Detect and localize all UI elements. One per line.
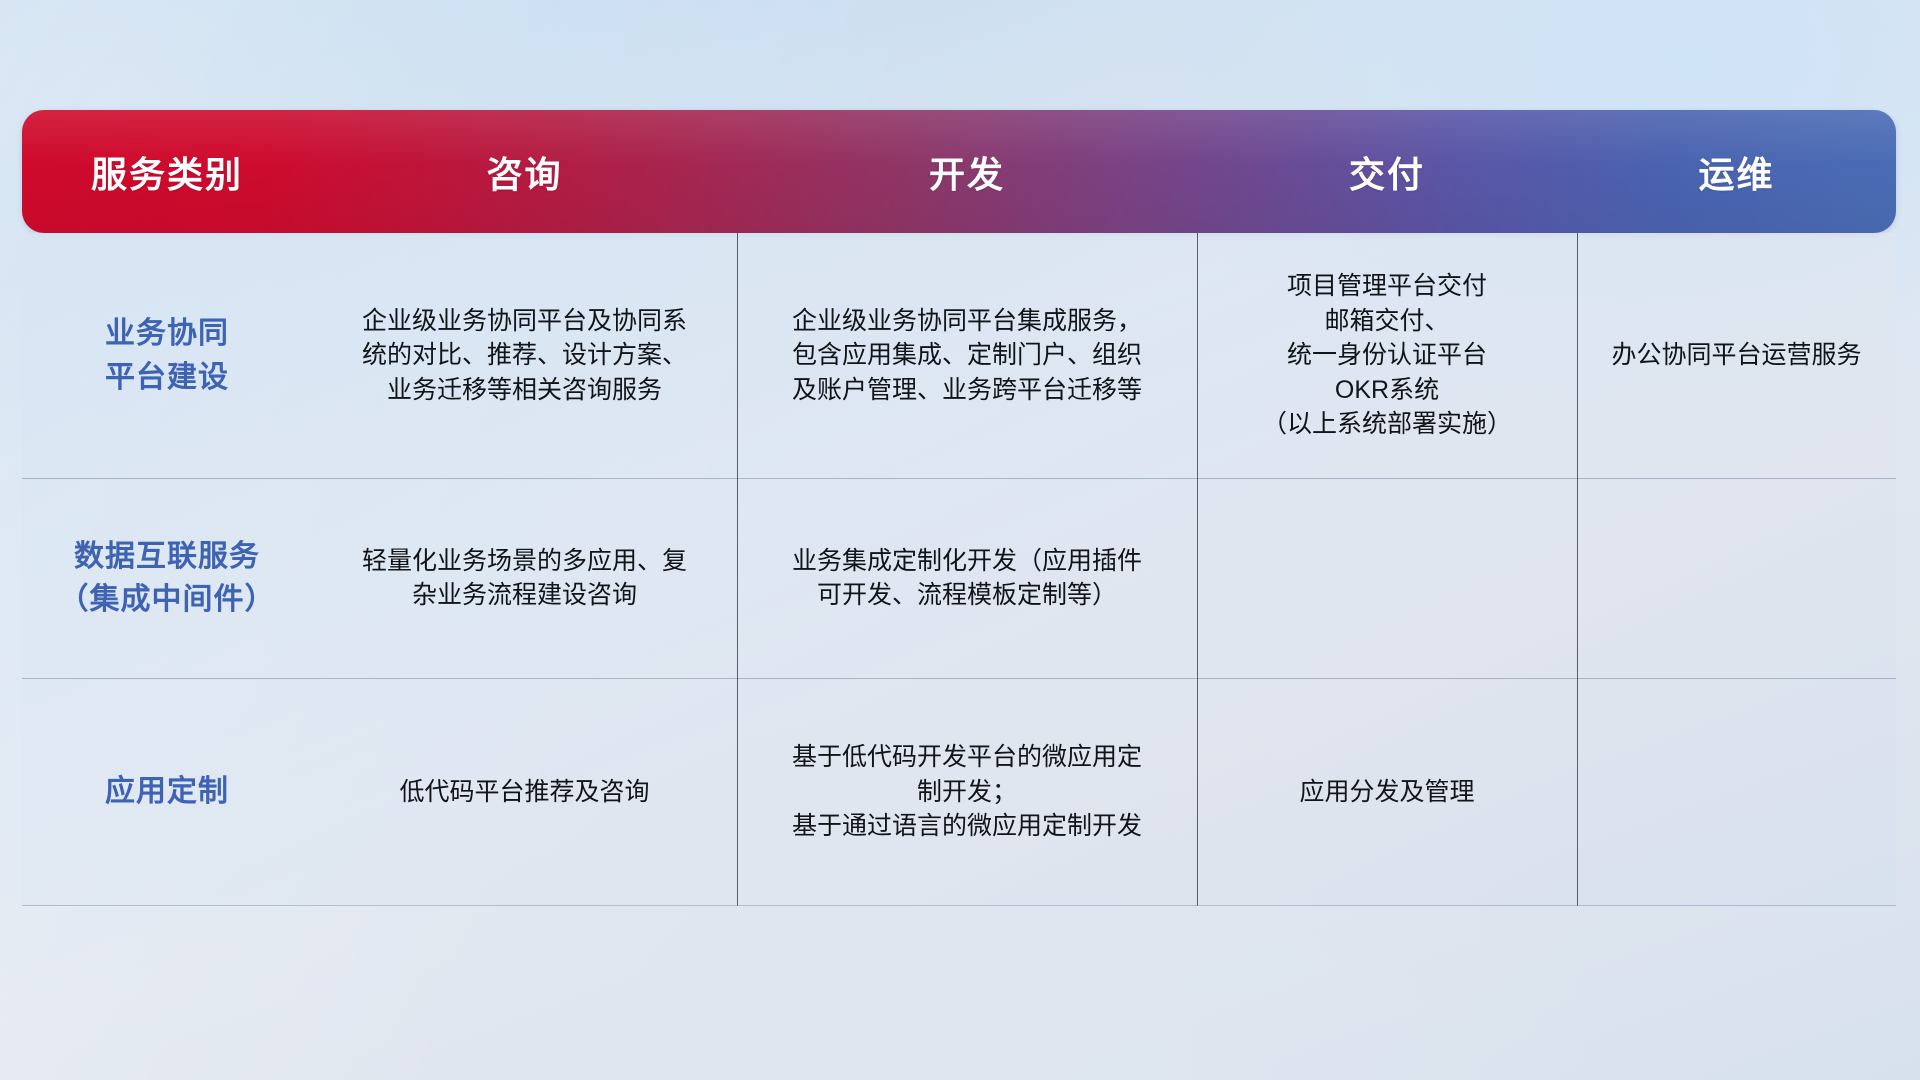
- table-row: 应用定制 低代码平台推荐及咨询 基于低代码开发平台的微应用定 制开发； 基于通过…: [22, 678, 1896, 906]
- cell-delivery: 应用分发及管理: [1197, 678, 1577, 906]
- table-body: 业务协同 平台建设 企业级业务协同平台及协同系 统的对比、推荐、设计方案、 业务…: [22, 233, 1896, 906]
- row-category-label: 应用定制: [22, 678, 312, 906]
- table-row: 业务协同 平台建设 企业级业务协同平台及协同系 统的对比、推荐、设计方案、 业务…: [22, 233, 1896, 478]
- table-row: 数据互联服务 （集成中间件） 轻量化业务场景的多应用、复 杂业务流程建设咨询 业…: [22, 478, 1896, 678]
- column-header-delivery: 交付: [1197, 110, 1577, 233]
- cell-consulting: 企业级业务协同平台及协同系 统的对比、推荐、设计方案、 业务迁移等相关咨询服务: [312, 233, 737, 478]
- table-header-row: 服务类别 咨询 开发 交付 运维: [22, 110, 1896, 233]
- cell-consulting: 低代码平台推荐及咨询: [312, 678, 737, 906]
- column-header-consulting: 咨询: [312, 110, 737, 233]
- cell-consulting: 轻量化业务场景的多应用、复 杂业务流程建设咨询: [312, 478, 737, 678]
- row-category-label: 数据互联服务 （集成中间件）: [22, 478, 312, 678]
- column-header-operations: 运维: [1577, 110, 1896, 233]
- service-matrix-table: 服务类别 咨询 开发 交付 运维 业务协同 平台建设 企业级业务协同平台及协同系…: [22, 110, 1896, 960]
- row-category-label: 业务协同 平台建设: [22, 233, 312, 478]
- column-header-development: 开发: [737, 110, 1197, 233]
- cell-development: 业务集成定制化开发（应用插件 可开发、流程模板定制等）: [737, 478, 1197, 678]
- cell-development: 基于低代码开发平台的微应用定 制开发； 基于通过语言的微应用定制开发: [737, 678, 1197, 906]
- cell-development: 企业级业务协同平台集成服务， 包含应用集成、定制门户、组织 及账户管理、业务跨平…: [737, 233, 1197, 478]
- cell-operations: [1577, 678, 1896, 906]
- cell-delivery: 项目管理平台交付 邮箱交付、 统一身份认证平台 OKR系统 （以上系统部署实施）: [1197, 233, 1577, 478]
- cell-operations: [1577, 478, 1896, 678]
- column-header-category: 服务类别: [22, 110, 312, 233]
- cell-delivery: [1197, 478, 1577, 678]
- cell-operations: 办公协同平台运营服务: [1577, 233, 1896, 478]
